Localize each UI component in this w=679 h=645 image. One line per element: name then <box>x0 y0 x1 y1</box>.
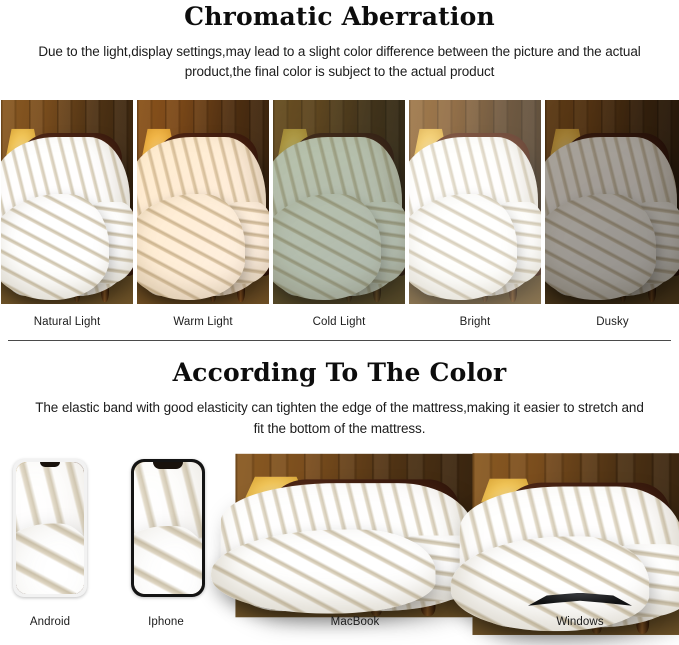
chromatic-aberration-section: Chromatic Aberration Due to the light,di… <box>0 0 679 341</box>
gallery-label-cold-light: Cold Light <box>273 304 405 328</box>
gallery-item-warm-light[interactable]: Warm Light <box>137 100 269 328</box>
product-photo-natural-light <box>1 100 133 304</box>
device-label-row: Android Iphone MacBook Windows <box>0 604 679 626</box>
chromatic-aberration-description: Due to the light,display settings,may le… <box>20 31 660 84</box>
gallery-item-bright[interactable]: Bright <box>409 100 541 328</box>
gallery-item-dusky[interactable]: Dusky <box>545 100 679 328</box>
gallery-label-warm-light: Warm Light <box>137 304 269 328</box>
gallery-item-natural-light[interactable]: Natural Light <box>1 100 133 328</box>
product-photo-warm-light <box>137 100 269 304</box>
windows-monitor-screen <box>500 468 660 561</box>
device-label-windows: Windows <box>556 604 603 628</box>
device-label-macbook: MacBook <box>331 604 380 628</box>
device-preview-iphone[interactable] <box>131 459 205 597</box>
device-preview-gallery <box>0 454 679 604</box>
product-photo-bright <box>409 100 541 304</box>
device-preview-windows[interactable] <box>496 464 664 606</box>
section-title-according-to-the-color: According To The Color <box>0 359 679 387</box>
product-photo-cold-light <box>273 100 405 304</box>
gallery-label-dusky: Dusky <box>545 304 679 328</box>
device-label-android: Android <box>30 604 70 628</box>
gallery-label-natural-light: Natural Light <box>1 304 133 328</box>
according-to-the-color-section: According To The Color The elastic band … <box>0 341 679 625</box>
product-photo-dusky <box>545 100 679 304</box>
macbook-screen <box>267 470 443 577</box>
gallery-item-cold-light[interactable]: Cold Light <box>273 100 405 328</box>
iphone-notch <box>153 462 183 469</box>
page-title: Chromatic Aberration <box>0 3 679 31</box>
gallery-label-bright: Bright <box>409 304 541 328</box>
iphone-screen <box>134 462 202 594</box>
android-screen <box>16 462 84 594</box>
device-preview-macbook[interactable] <box>255 462 455 596</box>
android-camera-cutout <box>40 462 60 467</box>
device-preview-android[interactable] <box>13 459 87 597</box>
according-to-the-color-description: The elastic band with good elasticity ca… <box>34 387 646 440</box>
device-label-iphone: Iphone <box>148 604 184 628</box>
light-condition-gallery: Natural Light Warm Light <box>0 100 679 328</box>
